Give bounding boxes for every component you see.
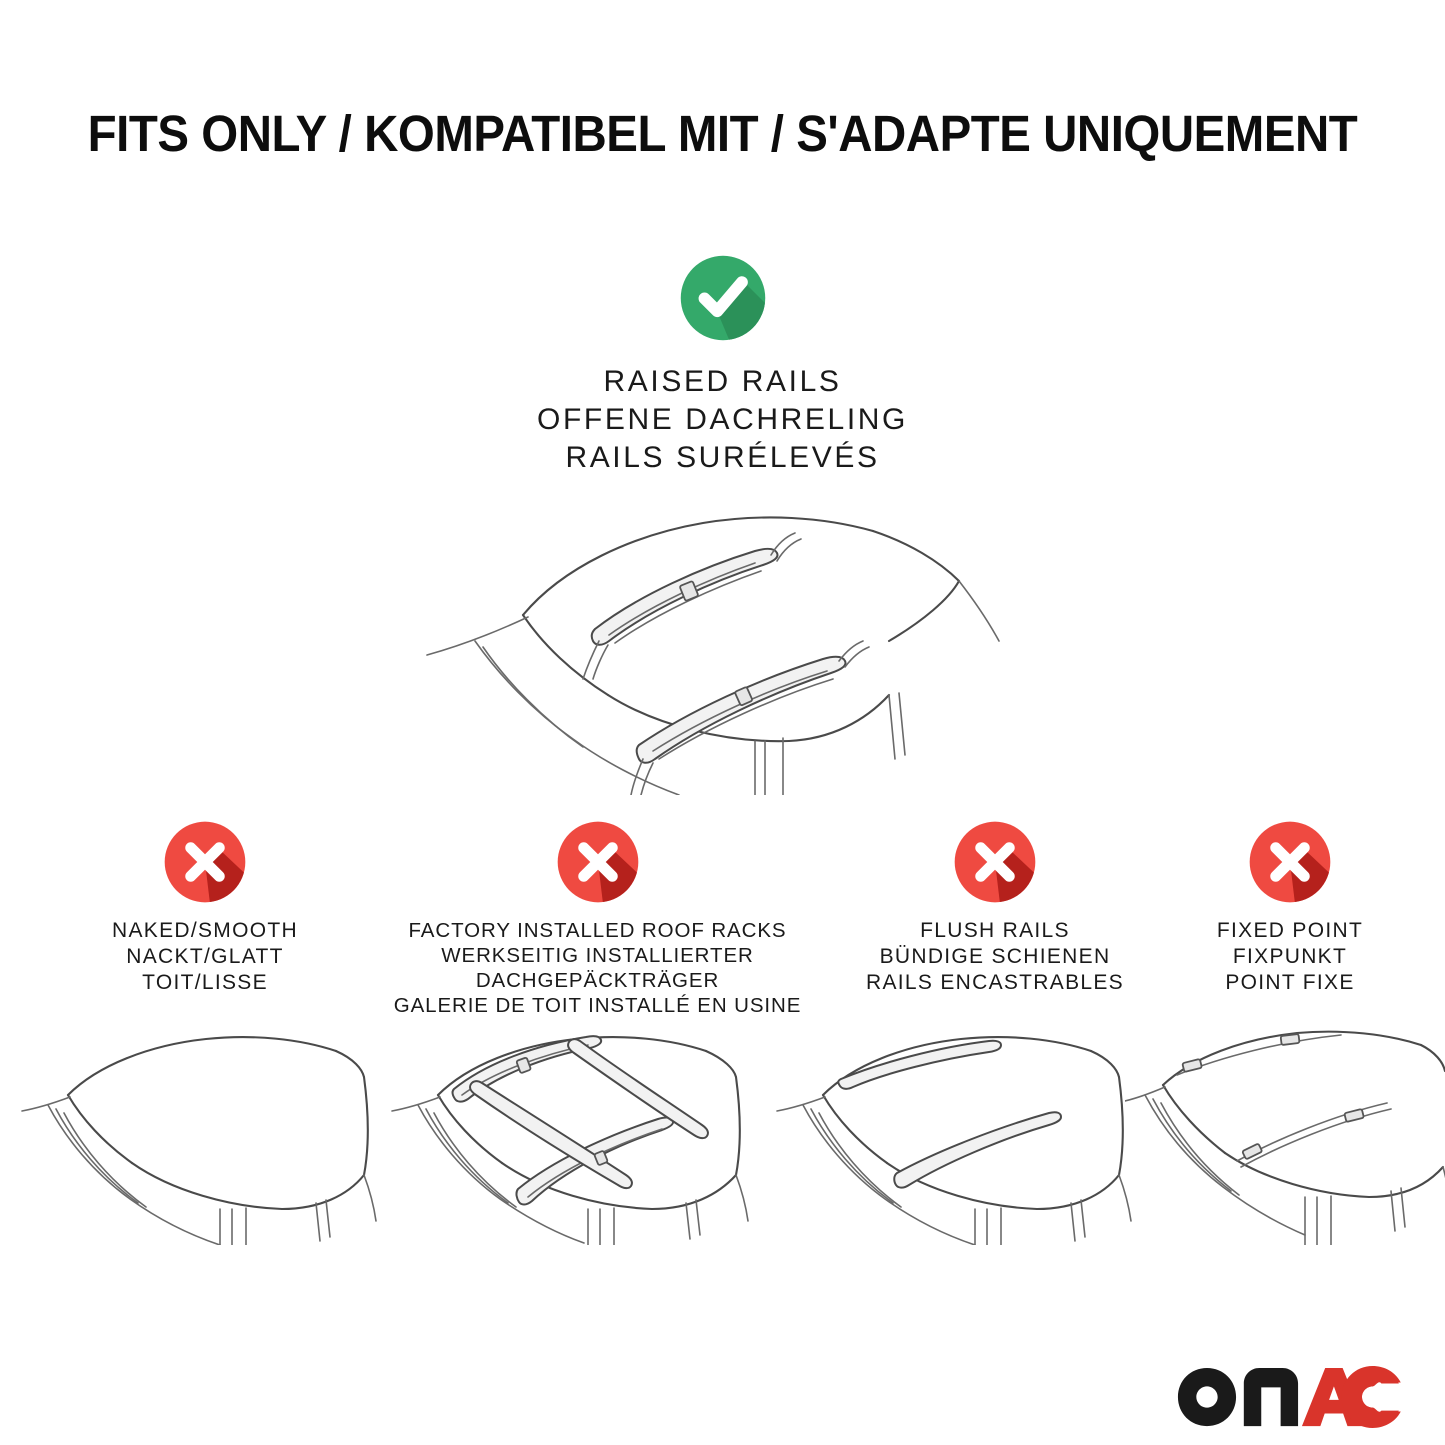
label-line: WERKSEITIG INSTALLIERTER	[375, 943, 820, 968]
car-roof-fixed-point-illustration	[1125, 1015, 1445, 1245]
compatible-label: RAISED RAILS OFFENE DACHRELING RAILS SUR…	[0, 363, 1445, 477]
incompatible-item-naked-smooth: NAKED/SMOOTH NACKT/GLATT TOIT/LISSE	[35, 820, 375, 996]
label-line: TOIT/LISSE	[35, 970, 375, 996]
label-line: NAKED/SMOOTH	[35, 918, 375, 944]
infographic-page: FITS ONLY / KOMPATIBEL MIT / S'ADAPTE UN…	[0, 0, 1445, 1445]
car-roof-raised-rails-illustration	[403, 495, 1043, 795]
incompatible-label-flush-rails: FLUSH RAILS BÜNDIGE SCHIENEN RAILS ENCAS…	[820, 918, 1170, 996]
incompatible-item-fixed-point: FIXED POINT FIXPUNKT POINT FIXE	[1170, 820, 1410, 996]
compatible-label-line-3: RAILS SURÉLEVÉS	[0, 439, 1445, 477]
label-line: POINT FIXE	[1170, 970, 1410, 996]
red-x-circle-icon	[1248, 820, 1332, 904]
red-x-circle-icon	[953, 820, 1037, 904]
label-line: FIXED POINT	[1170, 918, 1410, 944]
red-x-circle-icon	[163, 820, 247, 904]
green-check-circle-icon	[679, 254, 767, 342]
car-roof-naked-smooth-illustration	[20, 1015, 380, 1245]
label-line: FLUSH RAILS	[820, 918, 1170, 944]
label-line: NACKT/GLATT	[35, 944, 375, 970]
incompatible-label-fixed-point: FIXED POINT FIXPUNKT POINT FIXE	[1170, 918, 1410, 996]
red-x-circle-icon	[556, 820, 640, 904]
omac-logo	[1176, 1366, 1401, 1428]
incompatible-item-flush-rails: FLUSH RAILS BÜNDIGE SCHIENEN RAILS ENCAS…	[820, 820, 1170, 996]
label-line: FIXPUNKT	[1170, 944, 1410, 970]
car-roof-flush-rails-illustration	[775, 1015, 1135, 1245]
car-roof-factory-rack-illustration	[390, 1015, 760, 1245]
compatible-label-line-1: RAISED RAILS	[0, 363, 1445, 401]
incompatible-label-naked-smooth: NAKED/SMOOTH NACKT/GLATT TOIT/LISSE	[35, 918, 375, 996]
page-title: FITS ONLY / KOMPATIBEL MIT / S'ADAPTE UN…	[51, 104, 1395, 163]
incompatible-label-factory-rack: FACTORY INSTALLED ROOF RACKS WERKSEITIG …	[375, 918, 820, 1018]
compatible-label-line-2: OFFENE DACHRELING	[0, 401, 1445, 439]
label-line: BÜNDIGE SCHIENEN	[820, 944, 1170, 970]
incompatible-illustrations	[0, 1015, 1445, 1265]
label-line: RAILS ENCASTRABLES	[820, 970, 1170, 996]
incompatible-item-factory-rack: FACTORY INSTALLED ROOF RACKS WERKSEITIG …	[375, 820, 820, 1018]
label-line: DACHGEPÄCKTRÄGER	[375, 968, 820, 993]
label-line: FACTORY INSTALLED ROOF RACKS	[375, 918, 820, 943]
